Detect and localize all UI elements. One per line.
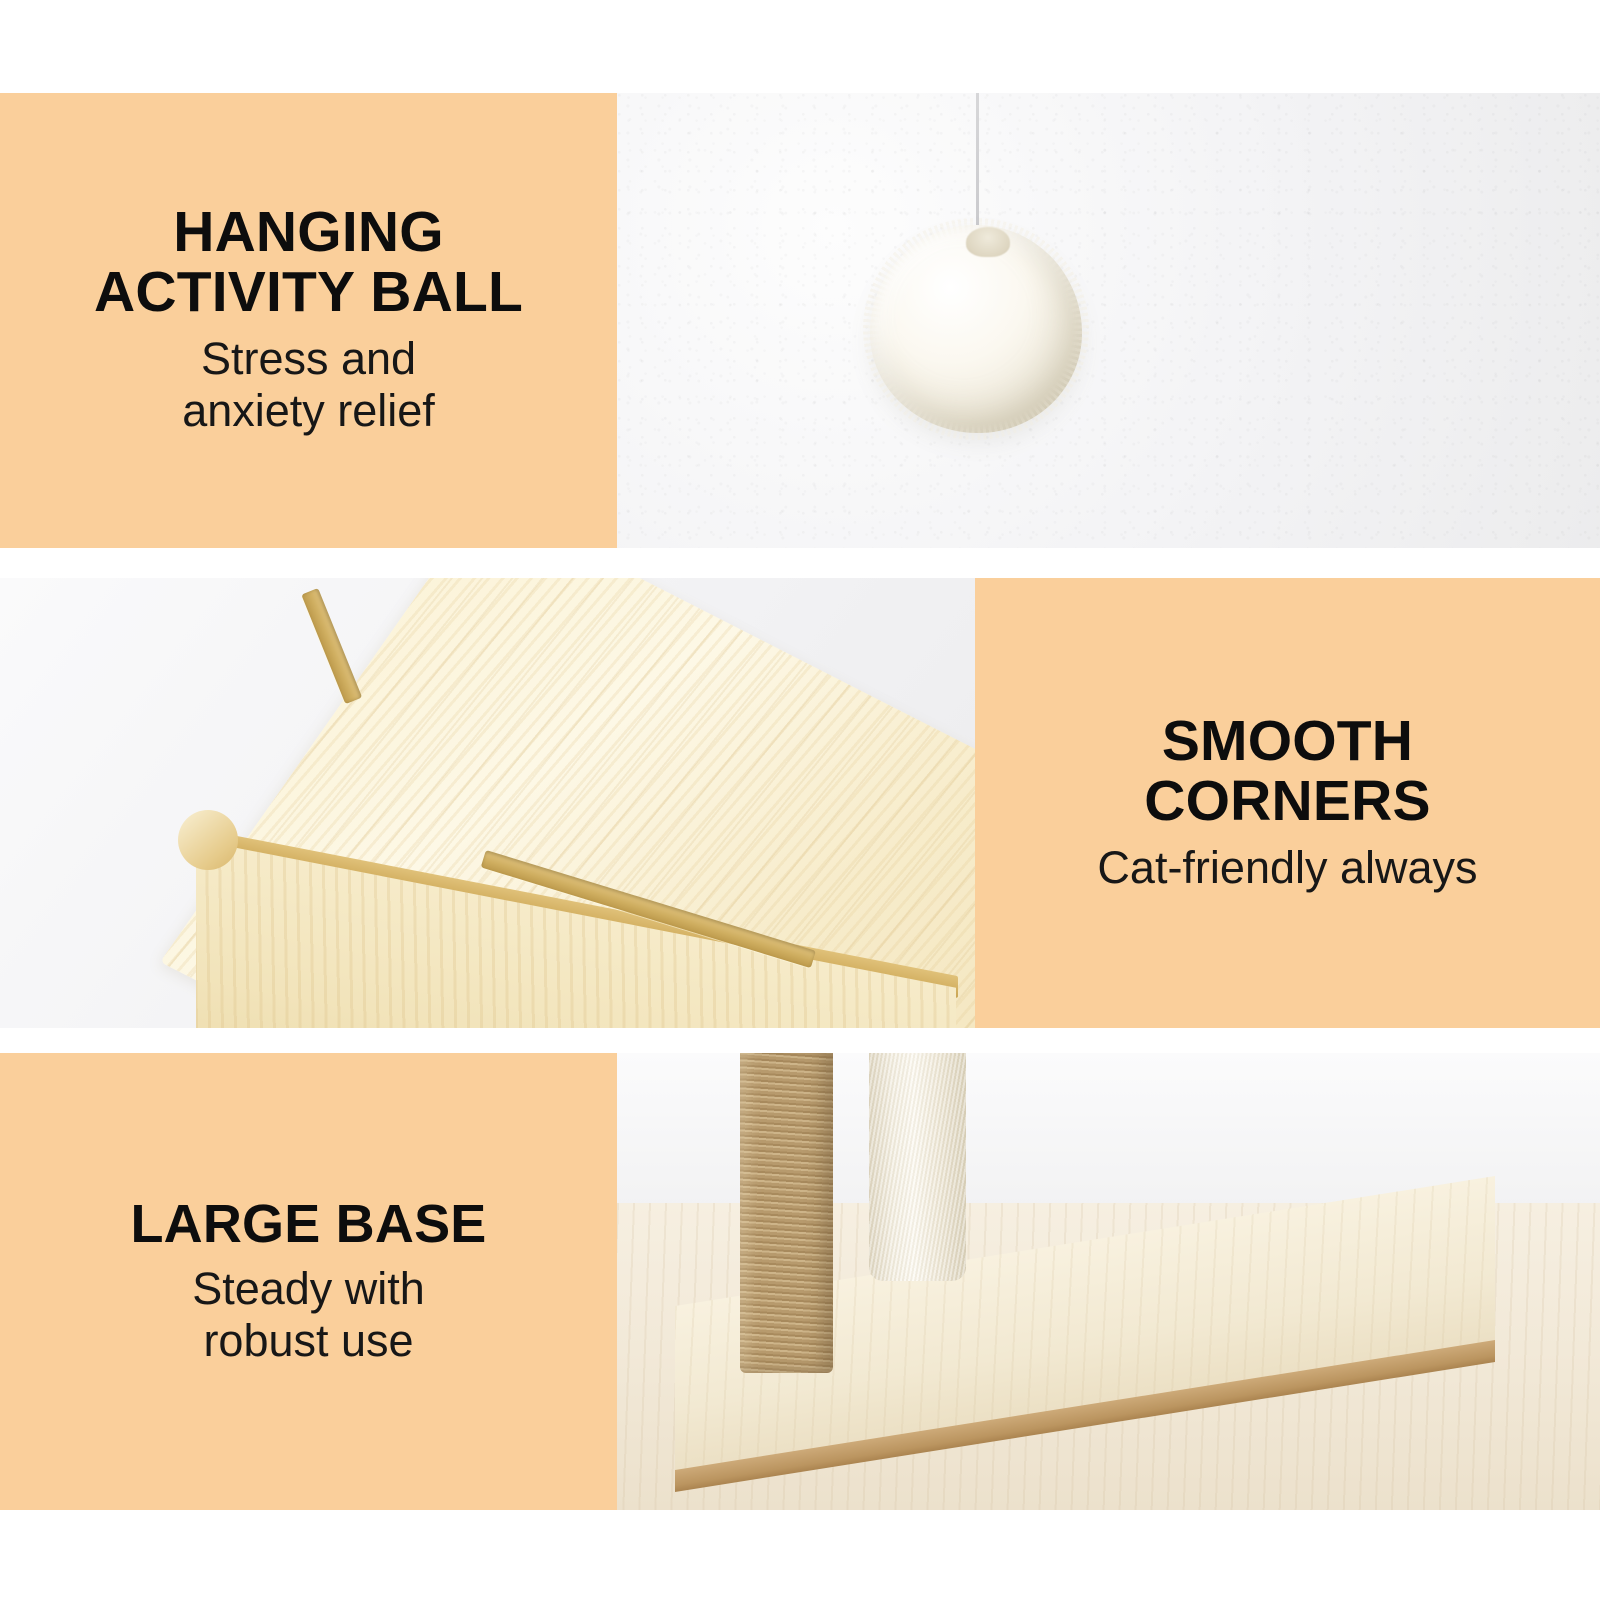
slot-lower — [481, 850, 816, 968]
wooden-box-top-edge — [196, 828, 958, 998]
wall-background — [617, 93, 1600, 548]
mdf-base-edge-left — [675, 1340, 1495, 1492]
caption-block-smooth-corners: SMOOTH CORNERS Cat-friendly always — [975, 578, 1600, 1028]
panel-subtitle-smooth-corners: Cat-friendly always — [1097, 842, 1477, 894]
sisal-scratching-post-left — [740, 1053, 833, 1373]
panel-subtitle-hanging-ball: Stress and anxiety relief — [182, 333, 435, 437]
product-photo-hanging-ball — [617, 93, 1600, 548]
room-floor — [617, 1203, 1600, 1510]
panel-title-hanging-ball: HANGING ACTIVITY BALL — [94, 203, 523, 323]
feature-panel-hanging-ball: HANGING ACTIVITY BALL Stress and anxiety… — [0, 93, 1600, 548]
wooden-box-top — [160, 578, 975, 1028]
product-photo-smooth-corners — [0, 578, 975, 1028]
wooden-box-front — [196, 840, 956, 1028]
caption-block-large-base: LARGE BASE Steady with robust use — [0, 1053, 617, 1510]
wall-texture-overlay — [617, 93, 1600, 548]
slot-upper — [301, 588, 362, 704]
hanging-string — [976, 93, 979, 241]
feature-panel-smooth-corners: SMOOTH CORNERS Cat-friendly always — [0, 578, 1600, 1028]
panel-subtitle-large-base: Steady with robust use — [192, 1263, 425, 1367]
caption-block-hanging-ball: HANGING ACTIVITY BALL Stress and anxiety… — [0, 93, 617, 548]
pom-pom-fuzz — [863, 218, 1089, 440]
pom-pom-ball — [870, 225, 1082, 433]
studio-background — [0, 578, 975, 1028]
mdf-base-board-left — [675, 1176, 1495, 1478]
room-wall — [617, 1053, 1600, 1211]
panel-title-smooth-corners: SMOOTH CORNERS — [1144, 712, 1430, 832]
product-photo-large-base — [617, 1053, 1600, 1510]
rounded-corner — [178, 810, 238, 870]
plush-post-left — [869, 1053, 966, 1281]
pom-pom-knot — [966, 227, 1010, 257]
infographic-board: HANGING ACTIVITY BALL Stress and anxiety… — [0, 0, 1600, 1600]
feature-panel-large-base: LARGE BASE Steady with robust use — [0, 1053, 1600, 1510]
panel-title-large-base: LARGE BASE — [130, 1196, 486, 1253]
